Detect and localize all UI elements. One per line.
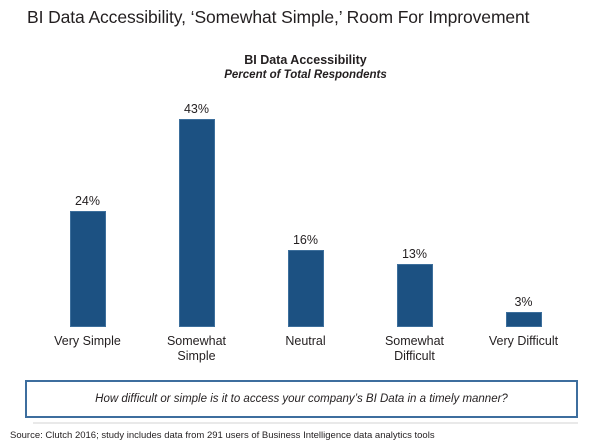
cat-line: Neutral <box>251 334 360 349</box>
bar-slot-somewhat-difficult: 13% <box>360 95 469 327</box>
page-headline: BI Data Accessibility, ‘Somewhat Simple,… <box>27 6 587 28</box>
cat-line: Difficult <box>360 349 469 364</box>
source-note: Source: Clutch 2016; study includes data… <box>10 430 435 442</box>
bar-somewhat-difficult[interactable] <box>397 264 433 327</box>
bar-slot-very-difficult: 3% <box>469 95 578 327</box>
bar-slot-very-simple: 24% <box>33 95 142 327</box>
cat-line: Simple <box>142 349 251 364</box>
bar-value-label: 16% <box>293 233 318 247</box>
bar-slot-neutral: 16% <box>251 95 360 327</box>
survey-question-box: How difficult or simple is it to access … <box>25 380 578 418</box>
x-axis-line <box>33 422 578 424</box>
chart-subtitle: Percent of Total Respondents <box>33 68 578 82</box>
cat-line: Very Simple <box>33 334 142 349</box>
bar-very-difficult[interactable] <box>506 312 542 327</box>
bar-somewhat-simple[interactable] <box>179 119 215 327</box>
bar-slot-somewhat-simple: 43% <box>142 95 251 327</box>
cat-line: Very Difficult <box>469 334 578 349</box>
cat-line: Somewhat <box>360 334 469 349</box>
x-axis-label-neutral: Neutral <box>251 334 360 349</box>
bar-very-simple[interactable] <box>70 211 106 327</box>
bar-value-label: 24% <box>75 194 100 208</box>
x-axis-label-somewhat-simple: Somewhat Simple <box>142 334 251 364</box>
bar-neutral[interactable] <box>288 250 324 327</box>
x-axis-label-very-simple: Very Simple <box>33 334 142 349</box>
bar-value-label: 13% <box>402 247 427 261</box>
x-axis-category-labels: Very Simple Somewhat Simple Neutral Some… <box>33 334 578 370</box>
survey-question-text: How difficult or simple is it to access … <box>95 393 508 405</box>
bar-value-label: 3% <box>514 295 532 309</box>
chart-title: BI Data Accessibility <box>33 53 578 68</box>
x-axis-label-somewhat-difficult: Somewhat Difficult <box>360 334 469 364</box>
bar-chart-plot-area: 24% 43% 16% 13% 3% <box>33 95 578 327</box>
cat-line: Somewhat <box>142 334 251 349</box>
chart-title-block: BI Data Accessibility Percent of Total R… <box>33 53 578 82</box>
x-axis-label-very-difficult: Very Difficult <box>469 334 578 349</box>
bar-value-label: 43% <box>184 102 209 116</box>
